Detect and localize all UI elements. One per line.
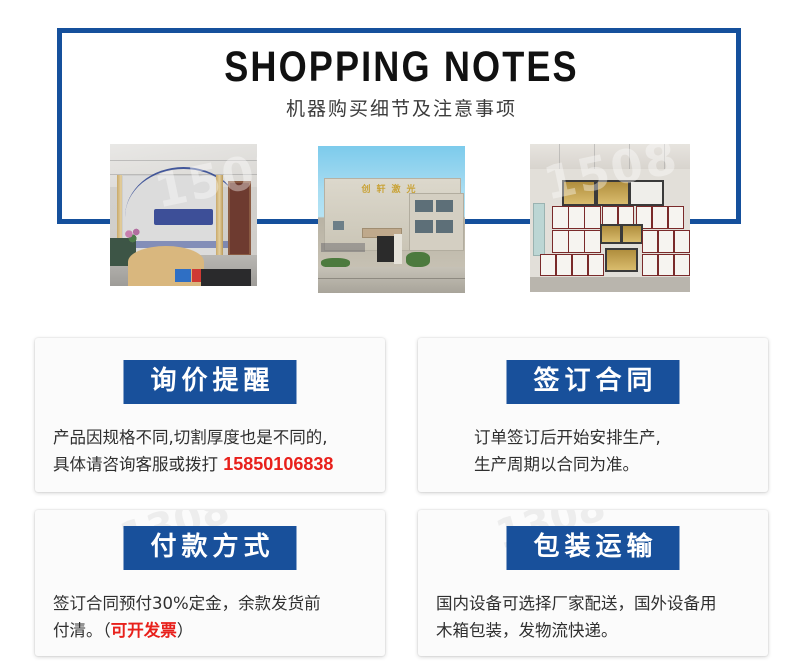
note-card-sign-contract[interactable]: 签订合同 订单签订后开始安排生产, 生产周期以合同为准。 [418, 338, 768, 492]
page-title: SHOPPING NOTES [64, 44, 739, 90]
page-subtitle: 机器购买细节及注意事项 [0, 97, 803, 121]
card-text: 木箱包装，发物流快递。 [436, 621, 618, 640]
card-text: 付清。（ [53, 621, 111, 640]
card-line: 具体请咨询客服或拨打 15850106838 [53, 451, 373, 478]
flower-vase [122, 226, 146, 246]
card-line: 付清。（可开发票） [53, 617, 373, 644]
card-line: 木箱包装，发物流快递。 [436, 617, 756, 644]
card-badge: 询价提醒 [123, 360, 296, 404]
phone-number[interactable]: 15850106838 [223, 454, 333, 474]
gate-pillar [394, 234, 401, 263]
note-card-payment-method[interactable]: 1308 付款方式 签订合同预付30%定金，余款发货前 付清。（可开发票） [35, 510, 385, 656]
window [436, 220, 454, 233]
ceiling [530, 144, 690, 169]
card-body: 产品因规格不同,切割厚度也是不同的, 具体请咨询客服或拨打 1585010683… [53, 424, 373, 478]
card-text: 订单签订后开始安排生产, [474, 428, 661, 447]
photo-factory-building: 创轩激光 [318, 146, 465, 293]
card-body: 订单签订后开始安排生产, 生产周期以合同为准。 [474, 424, 728, 478]
banner-section: SHOPPING NOTES 机器购买细节及注意事项 1508 [0, 0, 803, 320]
lobby-scene [110, 144, 257, 286]
certificate [572, 254, 588, 277]
certificate [552, 206, 568, 229]
card-badge: 付款方式 [123, 526, 296, 570]
plaque-gold [562, 180, 596, 206]
card-line: 签订合同预付30%定金，余款发货前 [53, 590, 373, 617]
card-body: 签订合同预付30%定金，余款发货前 付清。（可开发票） [53, 590, 373, 644]
pillar-right [216, 175, 223, 256]
card-line: 生产周期以合同为准。 [474, 451, 728, 478]
window [333, 221, 345, 230]
certificate [642, 230, 658, 253]
card-text: 产品因规格不同,切割厚度也是不同的, [53, 428, 328, 447]
certificate [584, 230, 600, 253]
factory-gate [377, 236, 395, 262]
certificate [674, 230, 690, 253]
notes-card-grid: 询价提醒 产品因规格不同,切割厚度也是不同的, 具体请咨询客服或拨打 15850… [0, 330, 803, 670]
card-body: 国内设备可选择厂家配送，国外设备用 木箱包装，发物流快递。 [436, 590, 756, 644]
factory-scene: 创轩激光 [318, 146, 465, 293]
card-badge: 签订合同 [506, 360, 679, 404]
certificate [568, 230, 584, 253]
certificate [658, 230, 674, 253]
road-line [318, 278, 465, 279]
photo-office-lobby: 1508 [110, 144, 257, 286]
card-badge: 包装运输 [506, 526, 679, 570]
certificate [642, 254, 658, 277]
photo-certificate-wall: 1508 [530, 144, 690, 292]
certificate [540, 254, 556, 277]
card-text: ） [177, 621, 194, 640]
card-text: 生产周期以合同为准。 [474, 455, 639, 474]
card-text: 具体请咨询客服或拨打 [53, 455, 223, 474]
certificate [668, 206, 684, 229]
certificate [674, 254, 690, 277]
plaque-dark [629, 180, 663, 206]
plaque-gold [605, 248, 638, 273]
certificate [652, 206, 668, 229]
window [415, 200, 433, 212]
certificate-scene [530, 144, 690, 292]
certificate [588, 254, 604, 277]
card-line: 订单签订后开始安排生产, [474, 424, 728, 451]
plaque-gold [596, 180, 630, 206]
card-highlight: 可开发票 [111, 621, 177, 640]
plaque-gold [621, 224, 643, 244]
door [228, 181, 251, 256]
road [318, 267, 465, 293]
card-text: 国内设备可选择厂家配送，国外设备用 [436, 594, 717, 613]
certificate [568, 206, 584, 229]
note-card-inquiry-notice[interactable]: 询价提醒 产品因规格不同,切割厚度也是不同的, 具体请咨询客服或拨打 15850… [35, 338, 385, 492]
certificate [584, 206, 600, 229]
wall-panel [533, 203, 545, 255]
window [415, 220, 433, 233]
note-card-packing-shipping[interactable]: 1308 包装运输 国内设备可选择厂家配送，国外设备用 木箱包装，发物流快递。 [418, 510, 768, 656]
factory-company-text [321, 243, 365, 252]
card-text: 签订合同预付30%定金，余款发货前 [53, 594, 321, 613]
floor [530, 277, 690, 292]
bush [406, 252, 430, 267]
plaque-gold [600, 224, 622, 244]
card-line: 国内设备可选择厂家配送，国外设备用 [436, 590, 756, 617]
card-line: 产品因规格不同,切割厚度也是不同的, [53, 424, 373, 451]
certificate [552, 230, 568, 253]
certificate [658, 254, 674, 277]
company-logo [154, 209, 213, 225]
brochure-blue [175, 269, 191, 282]
foreground-object [201, 269, 251, 286]
certificate [556, 254, 572, 277]
window [436, 200, 454, 212]
